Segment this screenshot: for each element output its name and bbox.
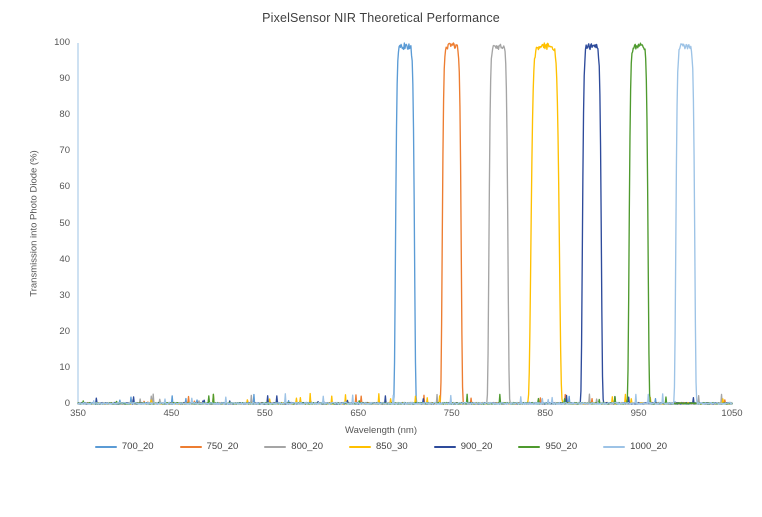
series-line-950_20 (78, 43, 732, 404)
series-line-700_20 (78, 43, 732, 404)
legend-item-700_20[interactable]: 700_20 (95, 441, 154, 452)
x-axis-title: Wavelength (nm) (0, 425, 762, 436)
legend-item-label: 700_20 (122, 441, 154, 452)
legend-item-750_20[interactable]: 750_20 (180, 441, 239, 452)
legend-color-swatch (349, 446, 371, 448)
legend-item-label: 800_20 (291, 441, 323, 452)
series-line-850_30 (78, 43, 732, 404)
legend-color-swatch (434, 446, 456, 448)
legend-item-label: 950_20 (545, 441, 577, 452)
series-line-900_20 (78, 44, 732, 404)
legend-color-swatch (180, 446, 202, 448)
legend-item-label: 750_20 (207, 441, 239, 452)
legend-color-swatch (95, 446, 117, 448)
legend-item-label: 900_20 (461, 441, 493, 452)
series-line-1000_20 (78, 44, 732, 404)
legend-color-swatch (518, 446, 540, 448)
y-axis-title: Transmission into Photo Diode (%) (29, 104, 40, 344)
legend-color-swatch (264, 446, 286, 448)
chart-legend: 700_20750_20800_20850_30900_20950_201000… (0, 441, 762, 452)
legend-item-850_30[interactable]: 850_30 (349, 441, 408, 452)
legend-item-label: 1000_20 (630, 441, 667, 452)
series-line-800_20 (78, 44, 732, 404)
legend-item-label: 850_30 (376, 441, 408, 452)
plot-area (0, 0, 762, 517)
legend-item-1000_20[interactable]: 1000_20 (603, 441, 667, 452)
legend-item-800_20[interactable]: 800_20 (264, 441, 323, 452)
series-line-750_20 (78, 43, 732, 404)
legend-item-900_20[interactable]: 900_20 (434, 441, 493, 452)
legend-color-swatch (603, 446, 625, 448)
legend-item-950_20[interactable]: 950_20 (518, 441, 577, 452)
chart-container: PixelSensor NIR Theoretical Performance … (0, 0, 762, 517)
